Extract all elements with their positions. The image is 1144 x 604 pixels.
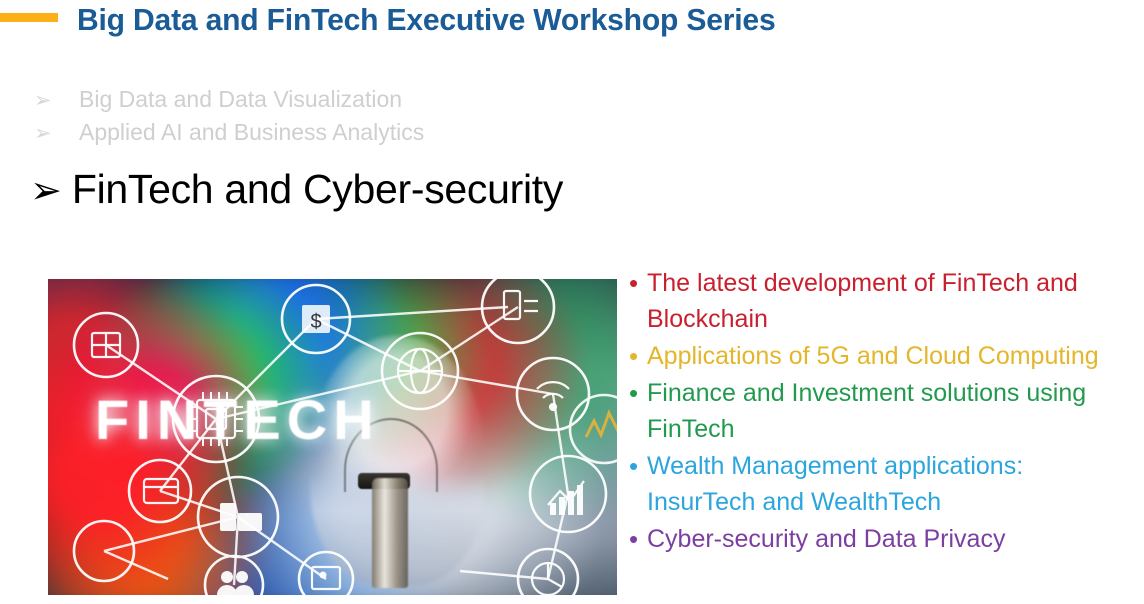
bullet-dot-icon: •	[629, 265, 647, 301]
svg-text:$: $	[310, 311, 321, 333]
icon-network-overlay: $	[48, 279, 617, 595]
list-item: • Cyber-security and Data Privacy	[629, 521, 1129, 557]
topic-label: Finance and Investment solutions using F…	[647, 375, 1129, 447]
current-topic-heading: ➢ FinTech and Cyber-security	[30, 166, 563, 213]
list-item: • Finance and Investment solutions using…	[629, 375, 1129, 447]
list-item: ➢ Big Data and Data Visualization	[34, 86, 654, 119]
topic-bullet-list: • The latest development of FinTech and …	[629, 265, 1129, 558]
slide-title-row: Big Data and FinTech Executive Workshop …	[0, 0, 1144, 48]
bullet-dot-icon: •	[629, 448, 647, 484]
topic-label: Wealth Management applications: InsurTec…	[647, 448, 1129, 520]
bullet-dot-icon: •	[629, 521, 647, 557]
topic-label: Cyber-security and Data Privacy	[647, 521, 1005, 557]
bullet-dot-icon: •	[629, 338, 647, 374]
arrow-bullet-icon: ➢	[30, 172, 62, 210]
title-accent-bar	[0, 13, 58, 22]
list-item: • Wealth Management applications: InsurT…	[629, 448, 1129, 520]
arrow-bullet-icon: ➢	[34, 123, 79, 144]
fintech-concept-image: FINTECH	[48, 279, 617, 595]
arrow-bullet-icon: ➢	[34, 90, 79, 111]
page-title: Big Data and FinTech Executive Workshop …	[77, 2, 775, 38]
previous-topic-label: Big Data and Data Visualization	[79, 86, 402, 113]
previous-topic-label: Applied AI and Business Analytics	[79, 119, 424, 146]
list-item: • Applications of 5G and Cloud Computing	[629, 338, 1129, 374]
bullet-dot-icon: •	[629, 375, 647, 411]
list-item: • The latest development of FinTech and …	[629, 265, 1129, 337]
list-item: ➢ Applied AI and Business Analytics	[34, 119, 654, 152]
current-topic-label: FinTech and Cyber-security	[72, 166, 563, 213]
topic-label: Applications of 5G and Cloud Computing	[647, 338, 1099, 374]
topic-label: The latest development of FinTech and Bl…	[647, 265, 1129, 337]
previous-topics-list: ➢ Big Data and Data Visualization ➢ Appl…	[34, 86, 654, 152]
